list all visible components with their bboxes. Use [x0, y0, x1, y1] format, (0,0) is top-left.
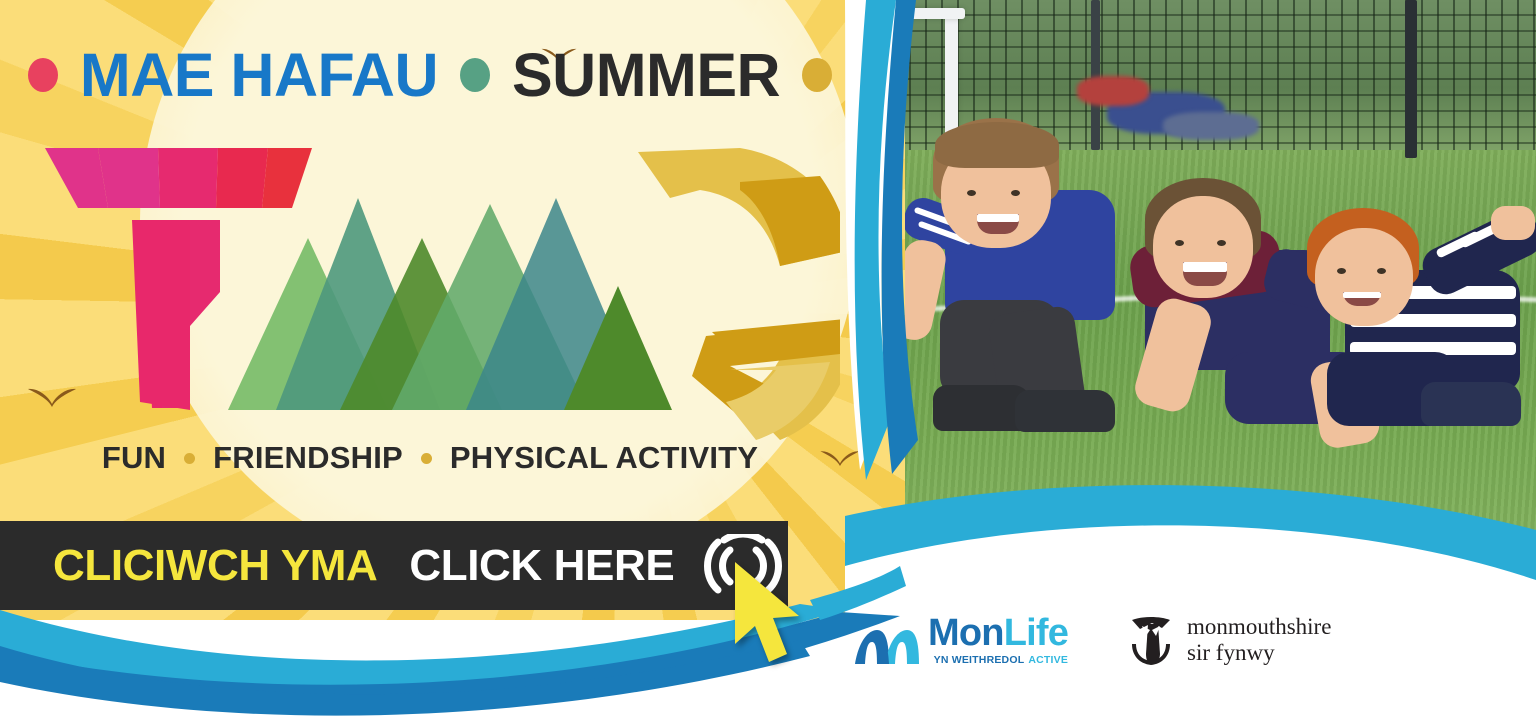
click-here-button[interactable]: CLICIWCH YMA CLICK HERE — [0, 521, 788, 610]
cta-label-english: CLICK HERE — [409, 541, 674, 591]
kit-bag — [1077, 76, 1149, 106]
monlife-logo[interactable]: MonLife YN WEITHREDOL ACTIVE — [855, 614, 1068, 666]
gold-dot-icon — [802, 58, 832, 92]
tagline-item-fun: FUN — [102, 440, 166, 476]
monmouthshire-crest-icon — [1128, 614, 1174, 666]
fence-post — [1091, 0, 1100, 150]
tagline-item-friendship: FRIENDSHIP — [213, 440, 403, 476]
monlife-wave-mark — [855, 628, 919, 666]
cta-label-welsh: CLICIWCH YMA — [53, 541, 377, 591]
green-dot-icon — [460, 58, 490, 92]
logo-letter-m — [228, 198, 672, 410]
tagline-row: FUN FRIENDSHIP PHYSICAL ACTIVITY — [0, 440, 860, 476]
tmg-logo — [40, 140, 840, 440]
monlife-word-mon: Mon — [928, 612, 1004, 654]
monlife-sub-english: ACTIVE — [1028, 655, 1068, 666]
fence-post — [1405, 0, 1417, 158]
monlife-word-life: Life — [1004, 612, 1068, 654]
logo-letter-g — [638, 148, 840, 440]
monmouthshire-logo[interactable]: monmouthshire sir fynwy — [1128, 614, 1331, 666]
tagline-separator-dot — [184, 453, 195, 464]
headline-welsh: MAE HAFAU — [80, 40, 438, 110]
monmouthshire-line2: sir fynwy — [1187, 640, 1331, 666]
tagline-item-physical-activity: PHYSICAL ACTIVITY — [450, 440, 758, 476]
headline-row: MAE HAFAU SUMMER — [0, 40, 860, 110]
pink-dot-icon — [28, 58, 58, 92]
headline-english: SUMMER — [512, 40, 780, 110]
monlife-sub-welsh: YN WEITHREDOL — [934, 655, 1025, 666]
summer-activities-banner[interactable]: MAE HAFAU SUMMER — [0, 0, 1536, 717]
children-playing-photo — [845, 0, 1536, 620]
kit-bag — [1163, 112, 1259, 140]
cursor-arrow-icon — [729, 560, 809, 668]
logo-row: MonLife YN WEITHREDOL ACTIVE — [855, 600, 1375, 680]
monmouthshire-line1: monmouthshire — [1187, 614, 1331, 640]
tagline-separator-dot — [421, 453, 432, 464]
